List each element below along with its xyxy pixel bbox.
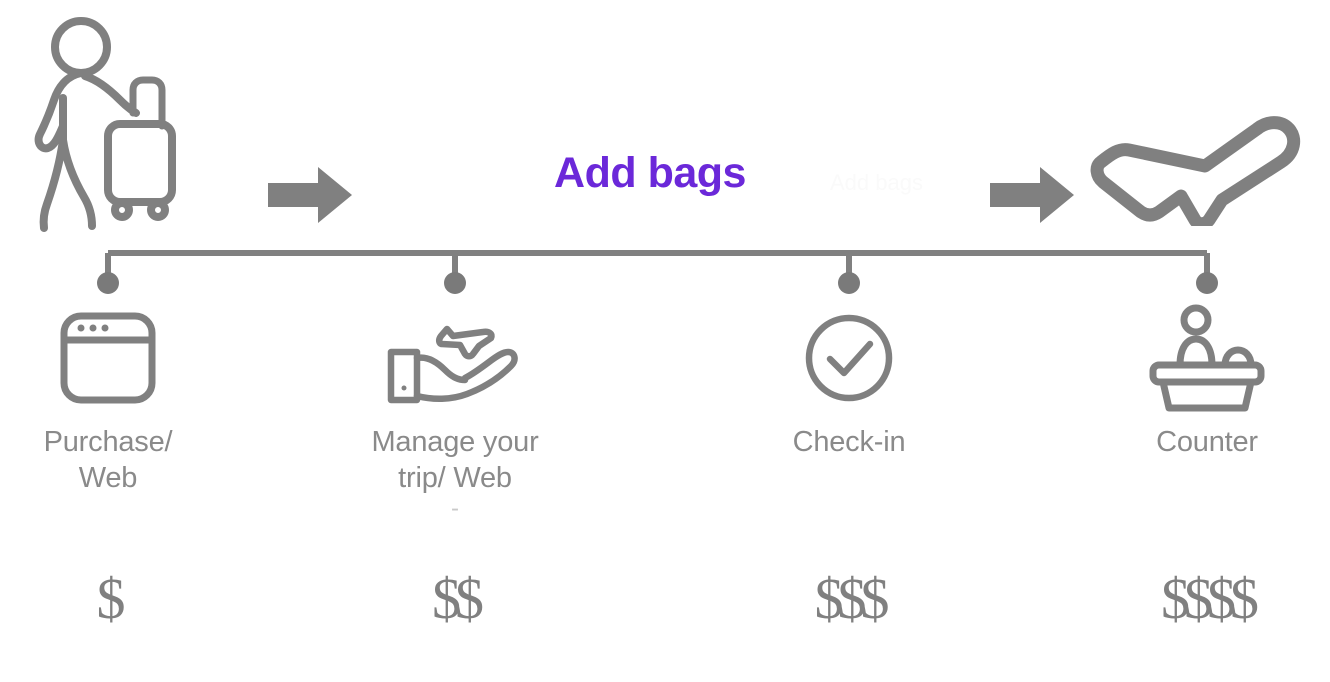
stage-label: Manage your trip/ Web [325,424,585,497]
stage-label: Check-in [719,424,979,460]
stage-label: Purchase/ Web [0,424,238,497]
timeline-rail [0,244,1330,300]
stage-manage-your-trip-web[interactable]: Manage your trip/ Web - [325,305,585,521]
traveller-with-suitcase-icon [30,14,205,249]
browser-window-icon [0,305,238,410]
airplane-takeoff-icon [1085,104,1307,226]
ghost-duplicate-text: Add bags [830,170,990,195]
stage-counter[interactable]: Counter [1077,305,1330,460]
right-arrow-icon [990,167,1074,223]
stage-cost: $$ [325,570,585,628]
right-arrow-icon [268,167,352,223]
stage-cost: $ [0,570,238,628]
page-title: Add bags [430,152,870,195]
stage-sublabel: - [325,497,585,521]
stage-cost: $$$ [719,570,979,628]
airport-counter-icon [1077,305,1330,410]
diagram-canvas: Add bags Add bags [0,0,1330,682]
stage-check-in[interactable]: Check-in [719,305,979,460]
stage-cost: $$$$ [1077,570,1330,628]
stage-label: Counter [1077,424,1330,460]
hand-holding-plane-icon [325,305,585,410]
stage-purchase-web[interactable]: Purchase/ Web [0,305,238,497]
check-circle-icon [719,305,979,410]
